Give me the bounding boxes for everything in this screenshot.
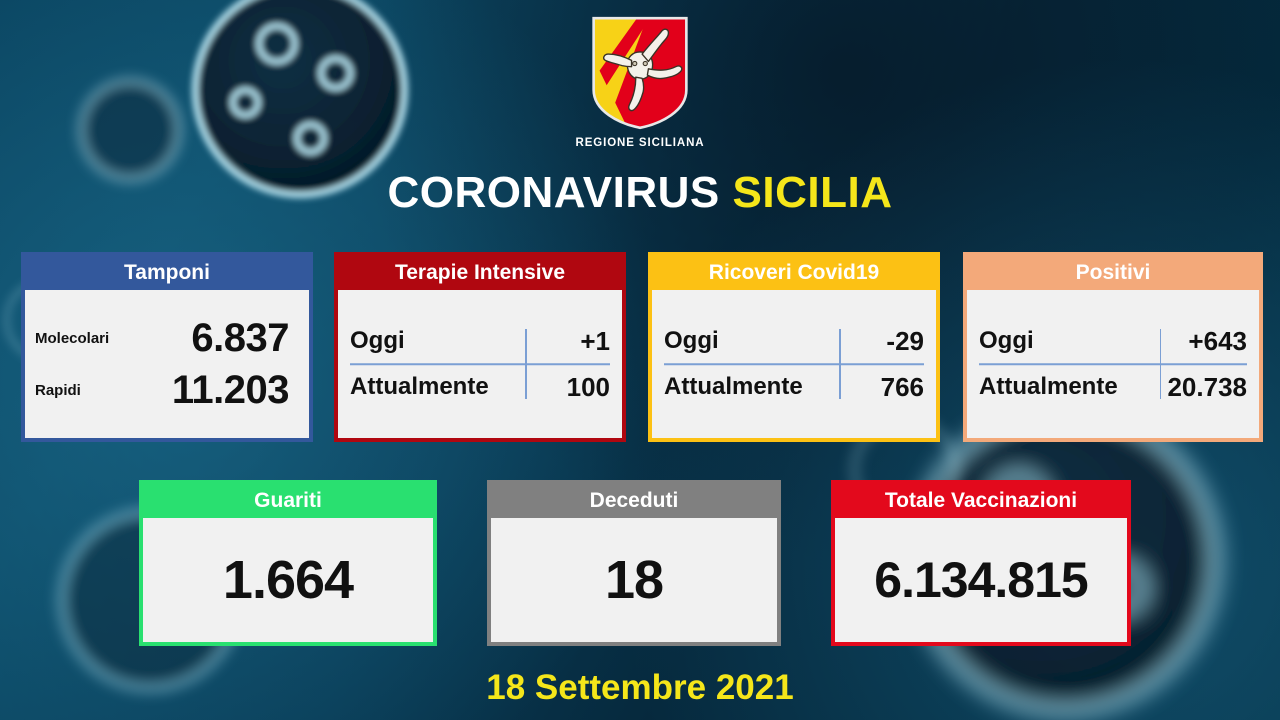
card-title-totale-vaccinazioni: Totale Vaccinazioni bbox=[835, 484, 1127, 518]
card-title-deceduti: Deceduti bbox=[491, 484, 777, 518]
stat-row-attualmente: Attualmente 100 bbox=[350, 364, 610, 410]
stat-label-attualmente: Attualmente bbox=[664, 373, 803, 401]
divider-vertical bbox=[1160, 329, 1162, 399]
stat-value-deceduti: 18 bbox=[491, 549, 777, 611]
stat-value-molecolari: 6.837 bbox=[143, 316, 303, 361]
stat-label-attualmente: Attualmente bbox=[979, 373, 1118, 401]
card-body-ricoveri-covid19: Oggi -29 Attualmente 766 bbox=[652, 290, 936, 438]
page-title: CORONAVIRUS SICILIA bbox=[0, 168, 1280, 218]
card-title-terapie-intensive: Terapie Intensive bbox=[338, 256, 622, 290]
stat-label-attualmente: Attualmente bbox=[350, 373, 489, 401]
stat-value-oggi: +1 bbox=[580, 326, 610, 357]
stat-label-oggi: Oggi bbox=[664, 327, 719, 355]
stat-label-oggi: Oggi bbox=[350, 327, 405, 355]
card-title-guariti: Guariti bbox=[143, 484, 433, 518]
stat-row-attualmente: Attualmente 20.738 bbox=[979, 364, 1247, 410]
stat-value-totale-vaccinazioni: 6.134.815 bbox=[835, 551, 1127, 609]
stat-card-ricoveri-covid19: Ricoveri Covid19 Oggi -29 Attualmente 76… bbox=[648, 252, 940, 442]
regione-siciliana-emblem: REGIONE SICILIANA bbox=[0, 14, 1280, 149]
stat-value-rapidi: 11.203 bbox=[143, 368, 303, 413]
stat-row-oggi: Oggi +1 bbox=[350, 318, 610, 364]
stat-rows-ricoveri: Oggi -29 Attualmente 766 bbox=[652, 318, 936, 410]
divider-horizontal bbox=[979, 363, 1247, 365]
emblem-caption: REGIONE SICILIANA bbox=[575, 137, 704, 149]
stat-value-oggi: +643 bbox=[1188, 326, 1247, 357]
divider-horizontal bbox=[350, 363, 610, 365]
stat-card-terapie-intensive: Terapie Intensive Oggi +1 Attualmente 10… bbox=[334, 252, 626, 442]
card-body-tamponi: Molecolari 6.837 Rapidi 11.203 bbox=[25, 290, 309, 438]
card-body-positivi: Oggi +643 Attualmente 20.738 bbox=[967, 290, 1259, 438]
card-body-terapie-intensive: Oggi +1 Attualmente 100 bbox=[338, 290, 622, 438]
divider-vertical bbox=[839, 329, 841, 399]
stat-row-rapidi: Rapidi 11.203 bbox=[25, 364, 309, 416]
stat-rows-positivi: Oggi +643 Attualmente 20.738 bbox=[967, 318, 1259, 410]
divider-horizontal bbox=[664, 363, 924, 365]
stat-value-guariti: 1.664 bbox=[143, 549, 433, 611]
card-body-deceduti: 18 bbox=[491, 518, 777, 642]
stat-row-oggi: Oggi -29 bbox=[664, 318, 924, 364]
stat-value-attualmente: 100 bbox=[567, 372, 610, 403]
stat-card-tamponi: Tamponi Molecolari 6.837 Rapidi 11.203 bbox=[21, 252, 313, 442]
stat-label-molecolari: Molecolari bbox=[35, 330, 143, 347]
stat-rows-terapie-intensive: Oggi +1 Attualmente 100 bbox=[338, 318, 622, 410]
stat-value-attualmente: 766 bbox=[881, 372, 924, 403]
stat-value-oggi: -29 bbox=[886, 326, 924, 357]
stat-row-attualmente: Attualmente 766 bbox=[664, 364, 924, 410]
title-sicilia: SICILIA bbox=[733, 168, 893, 217]
stat-label-oggi: Oggi bbox=[979, 327, 1034, 355]
stat-card-totale-vaccinazioni: Totale Vaccinazioni 6.134.815 bbox=[831, 480, 1131, 646]
sicily-trinacria-emblem-icon bbox=[586, 14, 694, 132]
stat-card-guariti: Guariti 1.664 bbox=[139, 480, 437, 646]
title-coronavirus: CORONAVIRUS bbox=[388, 168, 720, 217]
stat-card-deceduti: Deceduti 18 bbox=[487, 480, 781, 646]
card-body-guariti: 1.664 bbox=[143, 518, 433, 642]
report-date: 18 Settembre 2021 bbox=[0, 668, 1280, 708]
stat-value-attualmente: 20.738 bbox=[1167, 372, 1247, 403]
card-body-totale-vaccinazioni: 6.134.815 bbox=[835, 518, 1127, 642]
card-title-tamponi: Tamponi bbox=[25, 256, 309, 290]
divider-vertical bbox=[525, 329, 527, 399]
stat-label-rapidi: Rapidi bbox=[35, 382, 143, 399]
stat-row-oggi: Oggi +643 bbox=[979, 318, 1247, 364]
stat-card-positivi: Positivi Oggi +643 Attualmente 20.738 bbox=[963, 252, 1263, 442]
card-title-positivi: Positivi bbox=[967, 256, 1259, 290]
card-title-ricoveri-covid19: Ricoveri Covid19 bbox=[652, 256, 936, 290]
stat-row-molecolari: Molecolari 6.837 bbox=[25, 312, 309, 364]
